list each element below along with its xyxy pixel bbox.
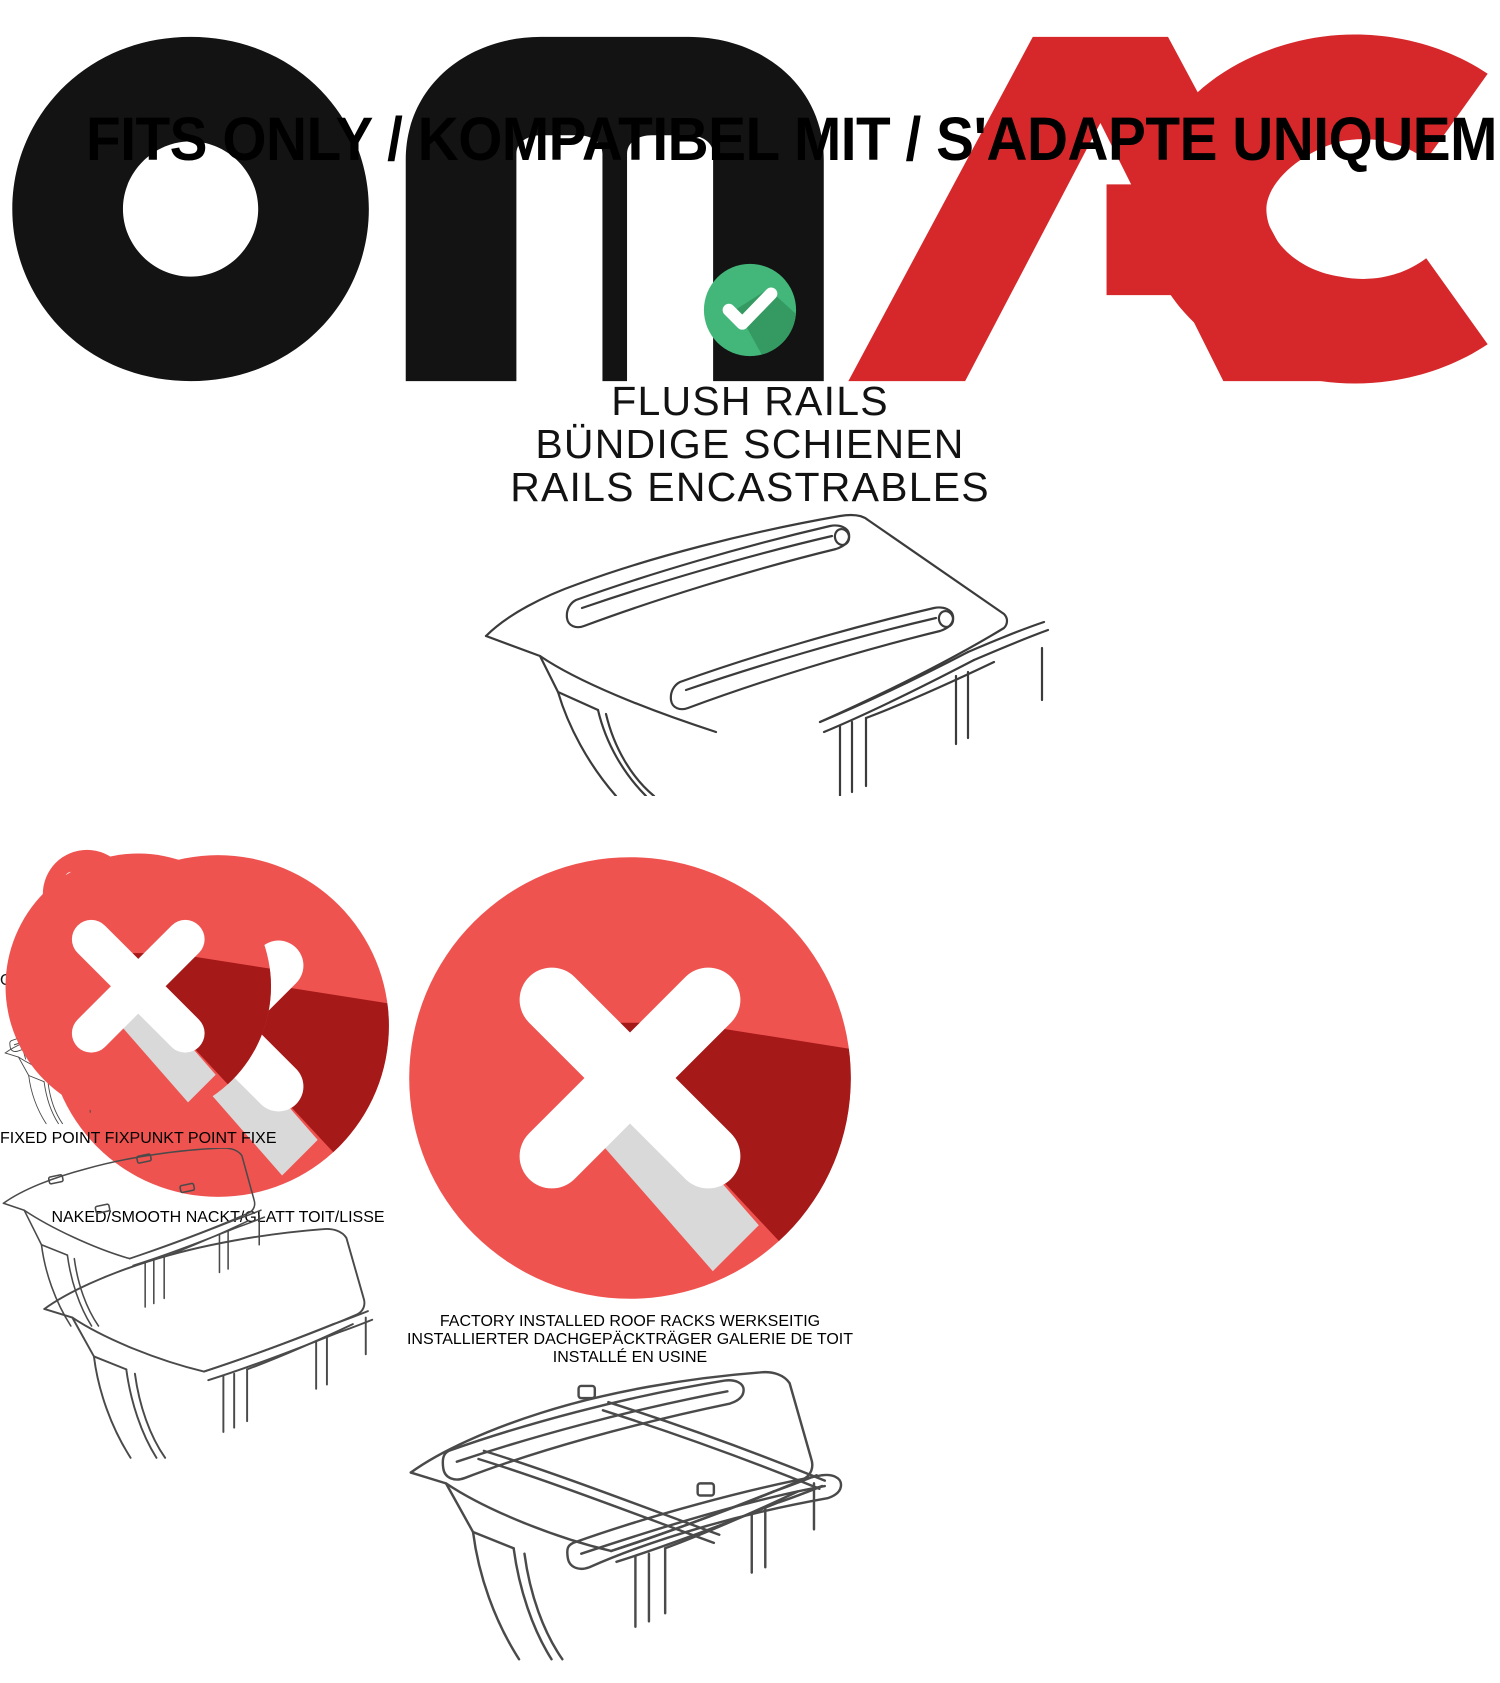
not-fits-section: NAKED/SMOOTH NACKT/GLATT TOIT/LISSE [0, 848, 1500, 1488]
car-roof-flush-rails-illustration [448, 496, 1068, 796]
not-fits-label: FACTORY INSTALLED ROOF RACKS WERKSEITIG … [400, 1313, 860, 1367]
fits-heading-line-de: BÜNDIGE SCHIENEN [0, 423, 1500, 466]
label-line-en: FACTORY INSTALLED ROOF RACKS [440, 1313, 715, 1330]
car-roof-factory-roof-racks-illustration [400, 1367, 860, 1678]
label-line-fr: TOIT/LISSE [299, 1209, 385, 1226]
car-roof-fixed-point-illustration [0, 1148, 277, 1347]
check-circle-icon [702, 262, 798, 358]
label-line-de-2: DACHGEPÄCKTRÄGER [534, 1331, 713, 1348]
label-line-en: FIXED POINT [0, 1130, 100, 1147]
page-title: FITS ONLY / KOMPATIBEL MIT / S'ADAPTE UN… [86, 108, 1332, 170]
not-fits-item-fixed-point: FIXED POINT FIXPUNKT POINT FIXE [0, 848, 277, 1351]
label-line-fr: POINT FIXE [188, 1130, 277, 1147]
x-circle-icon [0, 848, 277, 1125]
not-fits-item-factory-roof-racks: FACTORY INSTALLED ROOF RACKS WERKSEITIG … [400, 848, 860, 1683]
not-fits-label: FIXED POINT FIXPUNKT POINT FIXE [0, 1130, 277, 1148]
fits-heading-line-en: FLUSH RAILS [0, 380, 1500, 423]
fits-section: FLUSH RAILS BÜNDIGE SCHIENEN RAILS ENCAS… [0, 262, 1500, 509]
x-circle-icon [400, 848, 860, 1308]
fits-heading: FLUSH RAILS BÜNDIGE SCHIENEN RAILS ENCAS… [0, 380, 1500, 509]
label-line-de: FIXPUNKT [105, 1130, 184, 1147]
